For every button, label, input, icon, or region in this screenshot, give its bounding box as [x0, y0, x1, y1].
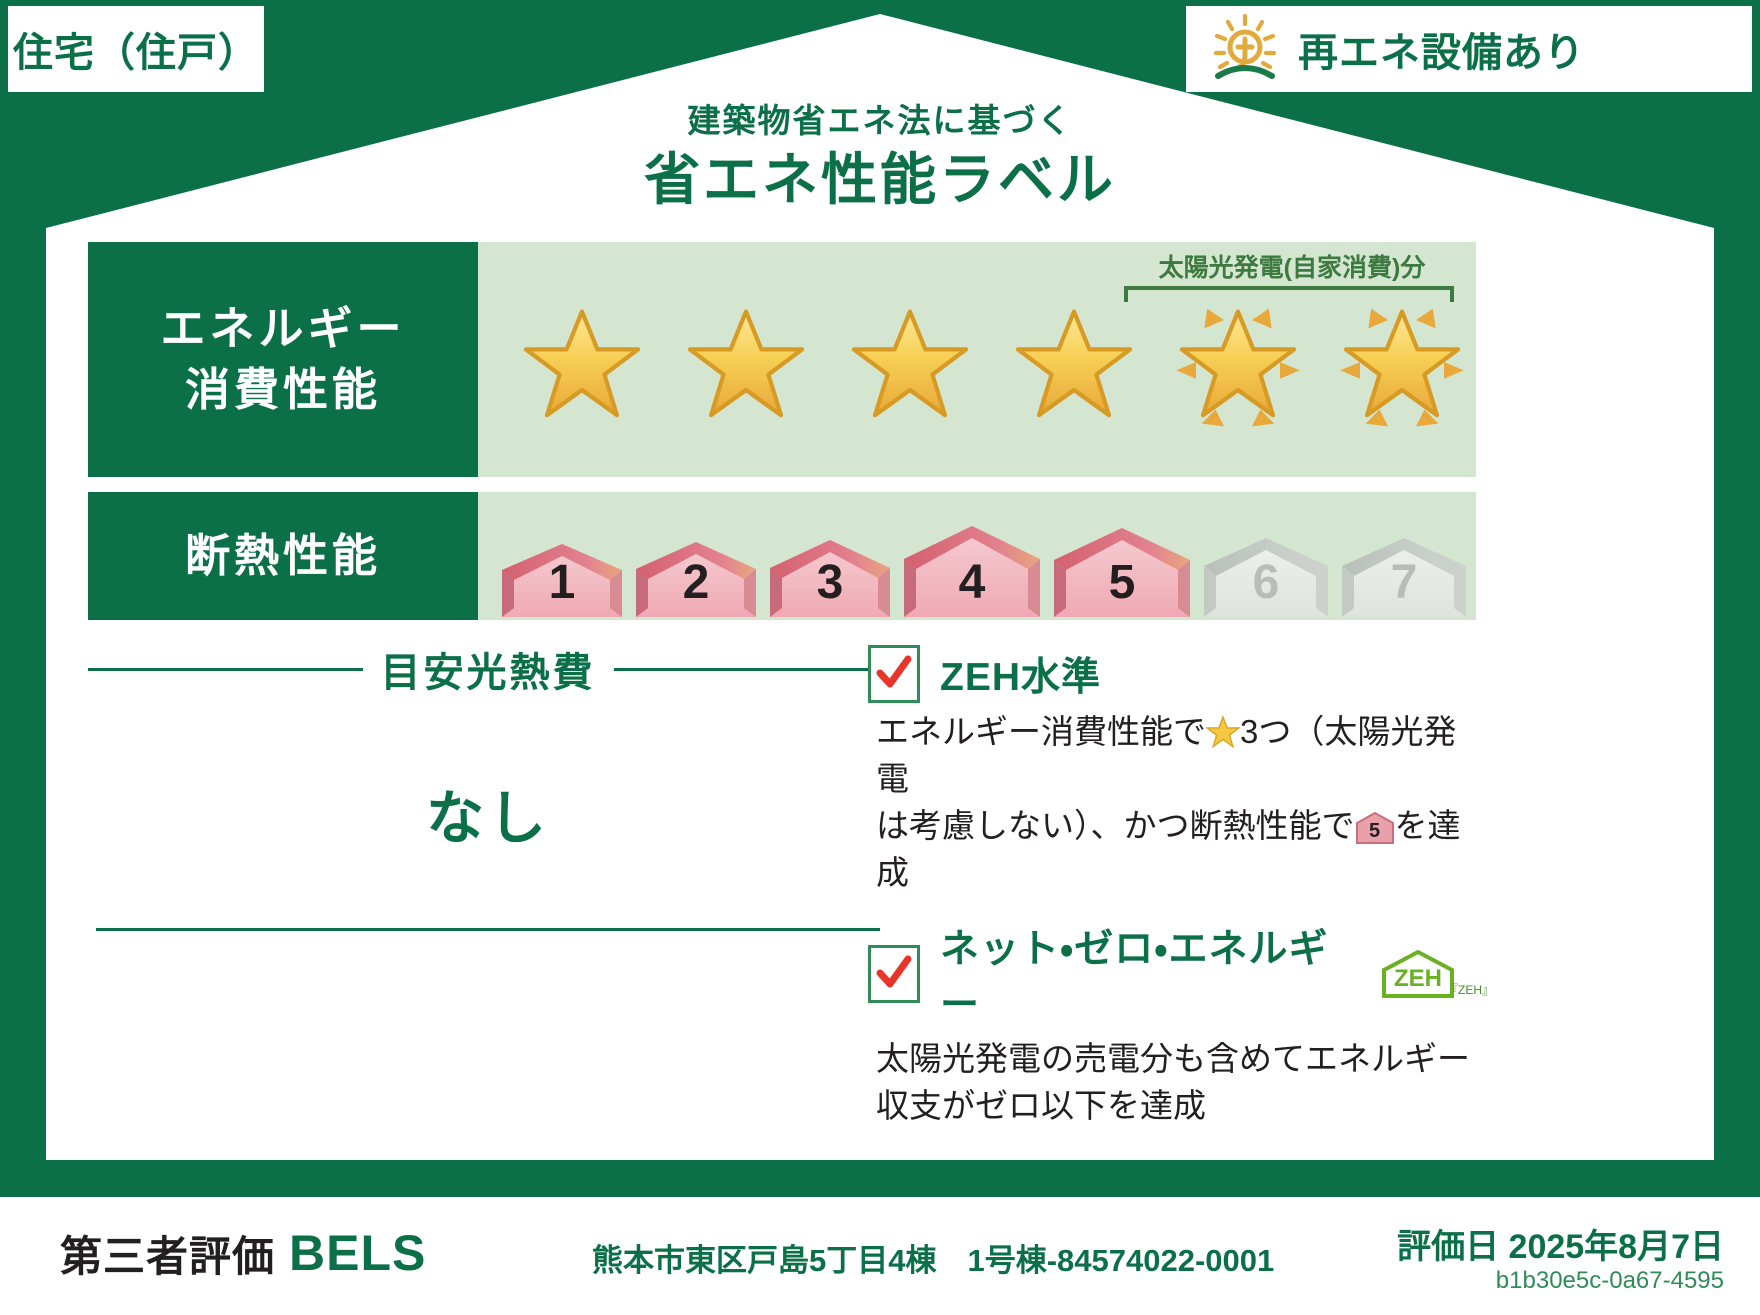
energy-star-1	[512, 292, 652, 432]
renewable-badge-label: 再エネ設備あり	[1298, 20, 1585, 78]
insulation-level-number: 4	[900, 555, 1044, 610]
inline-insulation-badge: 5	[1355, 811, 1395, 845]
evaluation-id: b1b30e5c-0a67-4595	[1496, 1267, 1724, 1295]
insulation-level-4: 4	[900, 524, 1044, 620]
criterion-zeh-standard: ZEH水準 エネルギー消費性能で3つ（太陽光発電 は考慮しない）、かつ断熱性能で…	[868, 645, 1488, 896]
insulation-level-7: 7	[1338, 536, 1470, 620]
title-main: 省エネ性能ラベル	[0, 145, 1760, 215]
third-party-eval-label: 第三者評価	[60, 1223, 275, 1284]
star-icon	[840, 292, 980, 432]
cost-panel-heading: 目安光熱費	[88, 640, 888, 698]
nze-body-line1: 太陽光発電の売電分も含めてエネルギー	[876, 1040, 1470, 1077]
energy-star-3	[840, 292, 980, 432]
zeh-body-part1: エネルギー消費性能で	[876, 713, 1206, 750]
renewable-equipment-badge: 再エネ設備あり	[1186, 6, 1752, 92]
checkbox-net-zero-energy[interactable]	[868, 945, 920, 1003]
energy-star-2	[676, 292, 816, 432]
insulation-level-scale: 1 2	[498, 524, 1470, 620]
check-icon	[875, 954, 913, 992]
criterion-zeh-header: ZEH水準	[868, 645, 1488, 703]
energy-star-6	[1332, 292, 1472, 432]
insulation-level-number: 3	[766, 555, 894, 610]
inline-badge-number: 5	[1355, 811, 1395, 845]
estimated-utility-cost-panel: 目安光熱費 なし	[88, 640, 888, 931]
cost-rule-bottom	[96, 928, 880, 931]
page-title: 建築物省エネ法に基づく 省エネ性能ラベル	[0, 100, 1760, 215]
insulation-level-6: 6	[1200, 536, 1332, 620]
star-icon	[1332, 292, 1472, 432]
cost-rule-left	[88, 668, 363, 671]
insulation-level-number: 2	[632, 555, 760, 610]
inline-star-icon	[1206, 715, 1240, 749]
energy-performance-row: エネルギー 消費性能 太陽光発電(自家消費)分	[88, 242, 1476, 477]
insulation-level-number: 1	[498, 555, 626, 610]
insulation-performance-row: 断熱性能 1	[88, 492, 1476, 620]
evaluation-date: 評価日 2025年8月7日	[1397, 1219, 1724, 1268]
property-address: 熊本市東区戸島5丁目4棟 1号棟-84574022-0001	[592, 1235, 1274, 1280]
insulation-level-number: 6	[1200, 555, 1332, 610]
bels-logo-box: 第三者評価 BELS	[34, 1211, 574, 1295]
building-type-label: 住宅（住戸）	[13, 20, 259, 78]
title-subtitle: 建築物省エネ法に基づく	[0, 100, 1760, 141]
checkbox-zeh-standard[interactable]	[868, 645, 920, 703]
criterion-net-zero-energy: ネット・ゼロ・エネルギー ZEH 『ZEH』 太陽光発電の売電分も含めてエネルギ…	[868, 918, 1488, 1130]
criterion-nze-body: 太陽光発電の売電分も含めてエネルギー 収支がゼロ以下を達成	[876, 1036, 1488, 1130]
insulation-level-1: 1	[498, 542, 626, 620]
insulation-level-2: 2	[632, 540, 760, 620]
insulation-level-5: 5	[1050, 526, 1194, 620]
solar-plug-icon	[1208, 12, 1282, 87]
criterion-zeh-body: エネルギー消費性能で3つ（太陽光発電 は考慮しない）、かつ断熱性能で5を達成	[876, 709, 1488, 896]
energy-performance-body: 太陽光発電(自家消費)分	[478, 242, 1476, 477]
energy-label-line2: 消費性能	[185, 360, 381, 421]
nze-body-line2: 収支がゼロ以下を達成	[876, 1087, 1206, 1124]
star-icon	[676, 292, 816, 432]
energy-star-rating	[512, 292, 1472, 432]
energy-performance-label: エネルギー 消費性能	[88, 242, 478, 477]
insulation-performance-label: 断熱性能	[88, 492, 478, 620]
criterion-nze-title: ネット・ゼロ・エネルギー	[940, 918, 1348, 1030]
check-icon	[875, 654, 913, 692]
solar-self-consumption-note: 太陽光発電(自家消費)分	[1132, 248, 1452, 284]
zeh-logo: ZEH 『ZEH』	[1378, 948, 1488, 1000]
cost-heading-label: 目安光熱費	[381, 640, 596, 698]
star-icon	[1168, 292, 1308, 432]
energy-star-5	[1168, 292, 1308, 432]
insulation-level-number: 7	[1338, 555, 1470, 610]
star-icon	[512, 292, 652, 432]
criterion-nze-header: ネット・ゼロ・エネルギー ZEH 『ZEH』	[868, 918, 1488, 1030]
insulation-performance-body: 1 2	[478, 492, 1476, 620]
cost-rule-right	[614, 668, 889, 671]
footer: 第三者評価 BELS 熊本市東区戸島5丁目4棟 1号棟-84574022-000…	[0, 1197, 1760, 1315]
insulation-level-number: 5	[1050, 555, 1194, 610]
star-icon	[1004, 292, 1144, 432]
insulation-level-3: 3	[766, 538, 894, 620]
criteria-panel: ZEH水準 エネルギー消費性能で3つ（太陽光発電 は考慮しない）、かつ断熱性能で…	[868, 645, 1488, 1152]
bels-wordmark: BELS	[289, 1224, 426, 1282]
zeh-body-part3: は考慮しない）、かつ断熱性能で	[876, 807, 1355, 844]
energy-label-line1: エネルギー	[160, 299, 405, 360]
cost-value: なし	[88, 698, 888, 928]
building-type-badge: 住宅（住戸）	[8, 6, 264, 92]
svg-text:『ZEH』: 『ZEH』	[1446, 983, 1488, 997]
svg-text:ZEH: ZEH	[1394, 965, 1442, 992]
criterion-zeh-title: ZEH水準	[940, 646, 1101, 702]
energy-star-4	[1004, 292, 1144, 432]
